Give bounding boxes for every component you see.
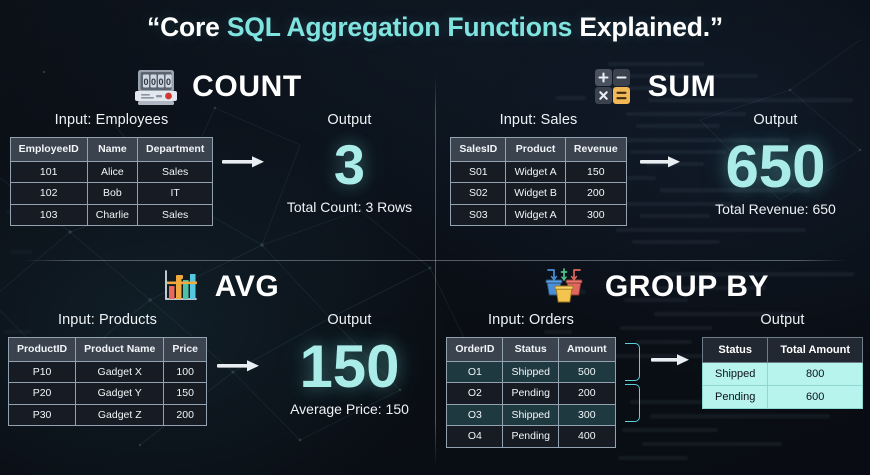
avg-input-label: Input: Products (1, 312, 215, 328)
count-output-label: Output (270, 112, 430, 128)
avg-output-caption: Average Price: 150 (265, 401, 435, 417)
flow-arrow-icon (218, 112, 270, 192)
count-title: COUNT (192, 70, 302, 104)
table-row-highlighted: O1 Shipped 500 (447, 361, 615, 383)
cell: Gadget Z (76, 404, 164, 426)
table-row: Pending 600 (702, 386, 862, 409)
count-output-caption: Total Count: 3 Rows (270, 199, 430, 215)
table-row: O2 Pending 200 (447, 383, 615, 405)
section-avg: AVG Input: Products ProductID Product Na… (0, 262, 435, 475)
cell: Gadget X (76, 361, 164, 383)
avg-input-panel: Input: Products ProductID Product Name P… (1, 312, 215, 426)
table-row-highlighted: O3 Shipped 300 (447, 404, 615, 426)
tally-counter-icon: 00 00 (133, 66, 179, 108)
cell: 101 (10, 161, 87, 183)
cell: Shipped (702, 363, 767, 386)
title-part-2: SQL Aggregation Functions (227, 12, 572, 42)
table-row: O4 Pending 400 (447, 426, 615, 448)
cell: 400 (558, 426, 615, 448)
cell: 150 (164, 383, 207, 405)
section-groupby: GROUP BY Input: Orders OrderID Status Am… (435, 262, 870, 475)
cell: O1 (447, 361, 503, 383)
column-header: EmployeeID (10, 138, 87, 162)
horizontal-divider (24, 260, 846, 261)
column-header: Product Name (76, 338, 164, 362)
sum-output-value: 650 (686, 137, 866, 197)
flow-arrow-icon (638, 112, 686, 192)
cell: S02 (451, 183, 506, 205)
cell: S01 (451, 161, 506, 183)
count-output-panel: Output 3 Total Count: 3 Rows (270, 112, 430, 215)
flow-arrow-icon (649, 312, 695, 392)
cell: 103 (10, 204, 87, 226)
section-sum: SUM Input: Sales SalesID Product Revenue… (435, 62, 870, 260)
avg-body: Input: Products ProductID Product Name P… (0, 312, 435, 426)
cell: P30 (8, 404, 75, 426)
groupby-output-table: Status Total Amount Shipped 800 Pending … (702, 337, 863, 409)
cell: O2 (447, 383, 503, 405)
cell: O4 (447, 426, 503, 448)
table-row: S01 Widget A 150 (451, 161, 626, 183)
title-part-1: Core (160, 12, 227, 42)
column-header: Department (138, 138, 213, 162)
groupby-output-panel: Output Status Total Amount Shipped 800 P… (695, 312, 870, 409)
column-header: Status (702, 338, 767, 363)
cell: 200 (164, 404, 207, 426)
column-header: Amount (558, 338, 615, 362)
column-header: ProductID (8, 338, 75, 362)
table-header-row: Status Total Amount (702, 338, 862, 363)
sum-body: Input: Sales SalesID Product Revenue S01… (435, 112, 870, 226)
table-header-row: EmployeeID Name Department (10, 138, 213, 162)
cell: Bob (87, 183, 137, 205)
section-count: 00 00 COUNT Input: Employees EmployeeID … (0, 62, 435, 260)
cell: Widget A (506, 161, 566, 183)
cell: Charlie (87, 204, 137, 226)
count-input-panel: Input: Employees EmployeeID Name Departm… (6, 112, 218, 226)
avg-output-panel: Output 150 Average Price: 150 (265, 312, 435, 417)
cell: Shipped (503, 361, 559, 383)
cell: Shipped (503, 404, 559, 426)
sum-input-panel: Input: Sales SalesID Product Revenue S01… (440, 112, 638, 226)
groupby-input-panel: Input: Orders OrderID Status Amount O1 S… (439, 312, 623, 448)
count-body: Input: Employees EmployeeID Name Departm… (0, 112, 435, 226)
table-header-row: ProductID Product Name Price (8, 338, 206, 362)
flow-arrow-icon (215, 312, 265, 392)
avg-title: AVG (215, 270, 280, 304)
table-row: S03 Widget A 300 (451, 204, 626, 226)
bar-chart-icon (156, 266, 202, 308)
svg-text:0: 0 (166, 77, 171, 87)
column-header: Price (164, 338, 207, 362)
page-title: “Core SQL Aggregation Functions Explaine… (0, 12, 870, 43)
buckets-icon (536, 266, 592, 308)
cell: 200 (565, 183, 626, 205)
groupby-output-label: Output (695, 312, 870, 328)
count-input-table: EmployeeID Name Department 101 Alice Sal… (10, 137, 214, 226)
table-row: S02 Widget B 200 (451, 183, 626, 205)
cell: IT (138, 183, 213, 205)
table-row: Shipped 800 (702, 363, 862, 386)
title-close-quote: ” (710, 12, 723, 42)
avg-output-value: 150 (265, 337, 435, 397)
table-header-row: SalesID Product Revenue (451, 138, 626, 162)
title-open-quote: “ (147, 12, 160, 42)
table-row: 101 Alice Sales (10, 161, 213, 183)
calculator-icon (589, 66, 635, 108)
sum-output-panel: Output 650 Total Revenue: 650 (686, 112, 866, 217)
cell: 200 (558, 383, 615, 405)
svg-text:0: 0 (144, 77, 149, 87)
groupby-input-label: Input: Orders (439, 312, 623, 328)
cell: S03 (451, 204, 506, 226)
table-row: P10 Gadget X 100 (8, 361, 206, 383)
avg-input-table: ProductID Product Name Price P10 Gadget … (8, 337, 207, 426)
cell: 102 (10, 183, 87, 205)
cell: 100 (164, 361, 207, 383)
table-header-row: OrderID Status Amount (447, 338, 615, 362)
groupby-body: Input: Orders OrderID Status Amount O1 S… (435, 312, 870, 448)
count-output-value: 3 (270, 137, 430, 193)
cell: Sales (138, 204, 213, 226)
cell: Pending (503, 426, 559, 448)
column-header: Total Amount (768, 338, 863, 363)
cell: O3 (447, 404, 503, 426)
sum-input-label: Input: Sales (440, 112, 638, 128)
svg-text:0: 0 (151, 77, 156, 87)
cell: Alice (87, 161, 137, 183)
cell: Pending (702, 386, 767, 409)
column-header: Revenue (565, 138, 626, 162)
column-header: Status (503, 338, 559, 362)
avg-output-label: Output (265, 312, 435, 328)
column-header: Name (87, 138, 137, 162)
cell: 300 (558, 404, 615, 426)
sum-output-caption: Total Revenue: 650 (686, 201, 866, 217)
sum-output-label: Output (686, 112, 866, 128)
cell: Widget A (506, 204, 566, 226)
group-bracket-shipped (625, 343, 640, 381)
cell: Widget B (506, 183, 566, 205)
sum-input-table: SalesID Product Revenue S01 Widget A 150… (450, 137, 626, 226)
table-row: 102 Bob IT (10, 183, 213, 205)
cell: 300 (565, 204, 626, 226)
cell: 500 (558, 361, 615, 383)
count-header: 00 00 COUNT (0, 62, 435, 112)
column-header: Product (506, 138, 566, 162)
cell: Gadget Y (76, 383, 164, 405)
groupby-title: GROUP BY (605, 270, 769, 304)
table-row: P30 Gadget Z 200 (8, 404, 206, 426)
cell: Sales (138, 161, 213, 183)
group-bracket-pending (625, 384, 640, 422)
count-input-label: Input: Employees (6, 112, 218, 128)
cell: 600 (768, 386, 863, 409)
svg-text:0: 0 (159, 77, 164, 87)
table-row: P20 Gadget Y 150 (8, 383, 206, 405)
table-row: 103 Charlie Sales (10, 204, 213, 226)
cell: P20 (8, 383, 75, 405)
cell: P10 (8, 361, 75, 383)
title-part-3: Explained. (572, 12, 710, 42)
groupby-input-table: OrderID Status Amount O1 Shipped 500 O2 … (446, 337, 615, 448)
column-header: SalesID (451, 138, 506, 162)
cell: Pending (503, 383, 559, 405)
group-brackets (623, 312, 649, 432)
cell: 800 (768, 363, 863, 386)
avg-header: AVG (0, 262, 435, 312)
cell: 150 (565, 161, 626, 183)
sum-title: SUM (648, 70, 716, 104)
sum-header: SUM (435, 62, 870, 112)
column-header: OrderID (447, 338, 503, 362)
groupby-header: GROUP BY (435, 262, 870, 312)
